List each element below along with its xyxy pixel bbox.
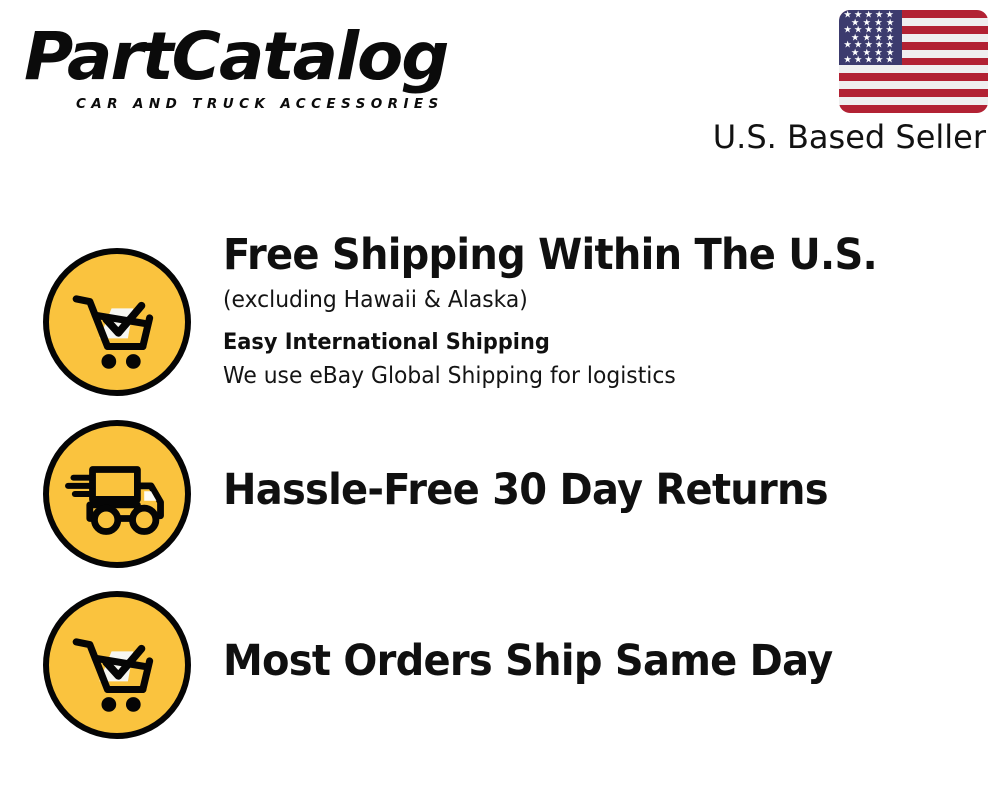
flag-stripe xyxy=(839,81,988,89)
feature-text-block: Free Shipping Within The U.S. (excluding… xyxy=(223,230,983,392)
us-based-seller-label: U.S. Based Seller xyxy=(586,118,986,156)
flag-stripe xyxy=(839,105,988,113)
us-flag-graphic: ★★★★★★★★★★★★★★★★★★★★★★★★★★★★★★★★ xyxy=(839,10,988,113)
feature-subtitle: We use eBay Global Shipping for logistic… xyxy=(223,360,945,392)
feature-note: (excluding Hawaii & Alaska) xyxy=(223,284,945,316)
shopping-cart-check-icon xyxy=(43,248,191,396)
flag-stripe xyxy=(839,97,988,105)
flag-star-icon: ★ xyxy=(854,56,863,66)
feature-row: Free Shipping Within The U.S. (excluding… xyxy=(0,230,1000,410)
flag-canton: ★★★★★★★★★★★★★★★★★★★★★★★★★★★★★★★★ xyxy=(839,10,902,65)
feature-text-block: Hassle-Free 30 Day Returns xyxy=(223,465,983,515)
flag-star-icon: ★ xyxy=(864,56,873,66)
flag-star-icon: ★ xyxy=(875,56,884,66)
flag-star-icon: ★ xyxy=(843,56,852,66)
feature-title: Free Shipping Within The U.S. xyxy=(223,230,930,280)
brand-tagline: CAR AND TRUCK ACCESSORIES xyxy=(76,96,494,112)
brand-logo: PartCatalog CAR AND TRUCK ACCESSORIES xyxy=(24,22,494,117)
feature-subtitle-bold: Easy International Shipping xyxy=(223,328,945,358)
seller-banner: PartCatalog CAR AND TRUCK ACCESSORIES ★★… xyxy=(0,0,1000,800)
flag-stripe xyxy=(839,73,988,81)
flag-stripe xyxy=(839,65,988,73)
feature-title: Most Orders Ship Same Day xyxy=(223,636,930,686)
feature-title: Hassle-Free 30 Day Returns xyxy=(223,465,930,515)
brand-wordmark: PartCatalog xyxy=(24,22,503,92)
us-flag-icon: ★★★★★★★★★★★★★★★★★★★★★★★★★★★★★★★★ xyxy=(839,10,988,113)
delivery-truck-icon xyxy=(43,420,191,568)
shopping-cart-check-icon xyxy=(43,591,191,739)
feature-text-block: Most Orders Ship Same Day xyxy=(223,636,983,686)
feature-row: Most Orders Ship Same Day xyxy=(0,591,1000,741)
flag-star-icon: ★ xyxy=(885,56,894,66)
flag-stripe xyxy=(839,89,988,97)
feature-row: Hassle-Free 30 Day Returns xyxy=(0,420,1000,570)
